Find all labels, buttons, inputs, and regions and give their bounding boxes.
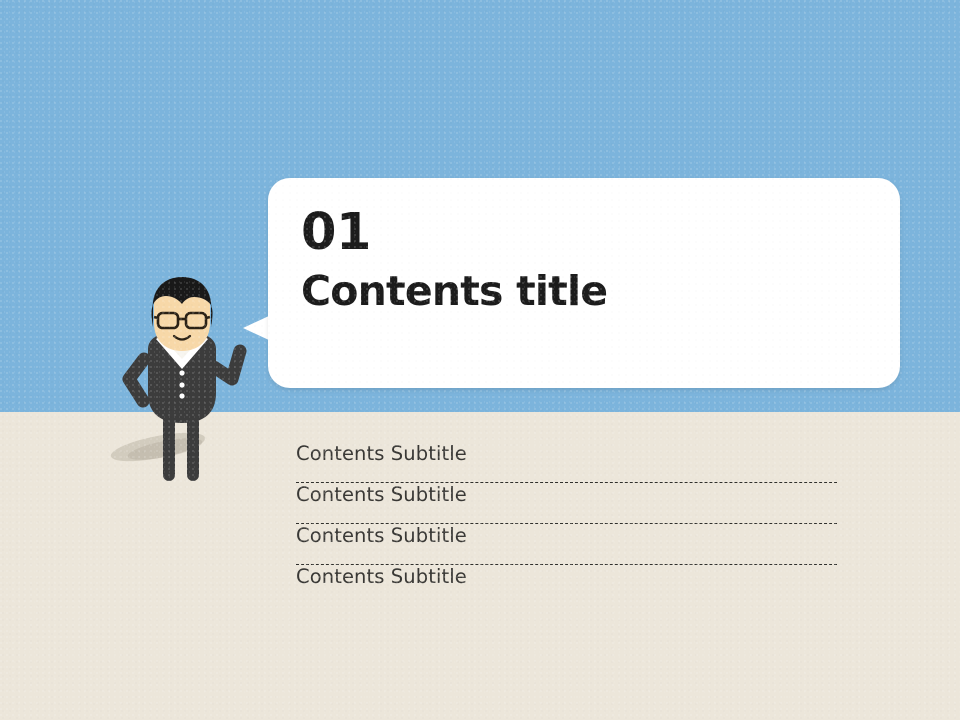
contents-subtitle-label: Contents Subtitle bbox=[296, 483, 467, 506]
speech-bubble-tail bbox=[243, 315, 271, 341]
contents-subtitle-label: Contents Subtitle bbox=[296, 524, 467, 547]
speech-bubble: 01 Contents title bbox=[268, 178, 900, 388]
contents-list: Contents Subtitle Contents Subtitle Cont… bbox=[296, 442, 841, 606]
list-item[interactable]: Contents Subtitle bbox=[296, 442, 841, 483]
left-arm-on-hip-icon bbox=[129, 359, 144, 401]
page-title: Contents title bbox=[301, 271, 607, 312]
suit-buttons-icon bbox=[179, 370, 184, 398]
right-arm-waving-icon bbox=[214, 351, 240, 379]
list-item[interactable]: Contents Subtitle bbox=[296, 483, 841, 524]
contents-subtitle-label: Contents Subtitle bbox=[296, 565, 467, 588]
section-number: 01 bbox=[301, 207, 371, 258]
list-item[interactable]: Contents Subtitle bbox=[296, 565, 841, 606]
slide-canvas: 01 Contents title Contents Subtitle Cont… bbox=[0, 0, 960, 720]
list-item[interactable]: Contents Subtitle bbox=[296, 524, 841, 565]
contents-subtitle-label: Contents Subtitle bbox=[296, 442, 467, 465]
character-illustration bbox=[110, 275, 290, 495]
